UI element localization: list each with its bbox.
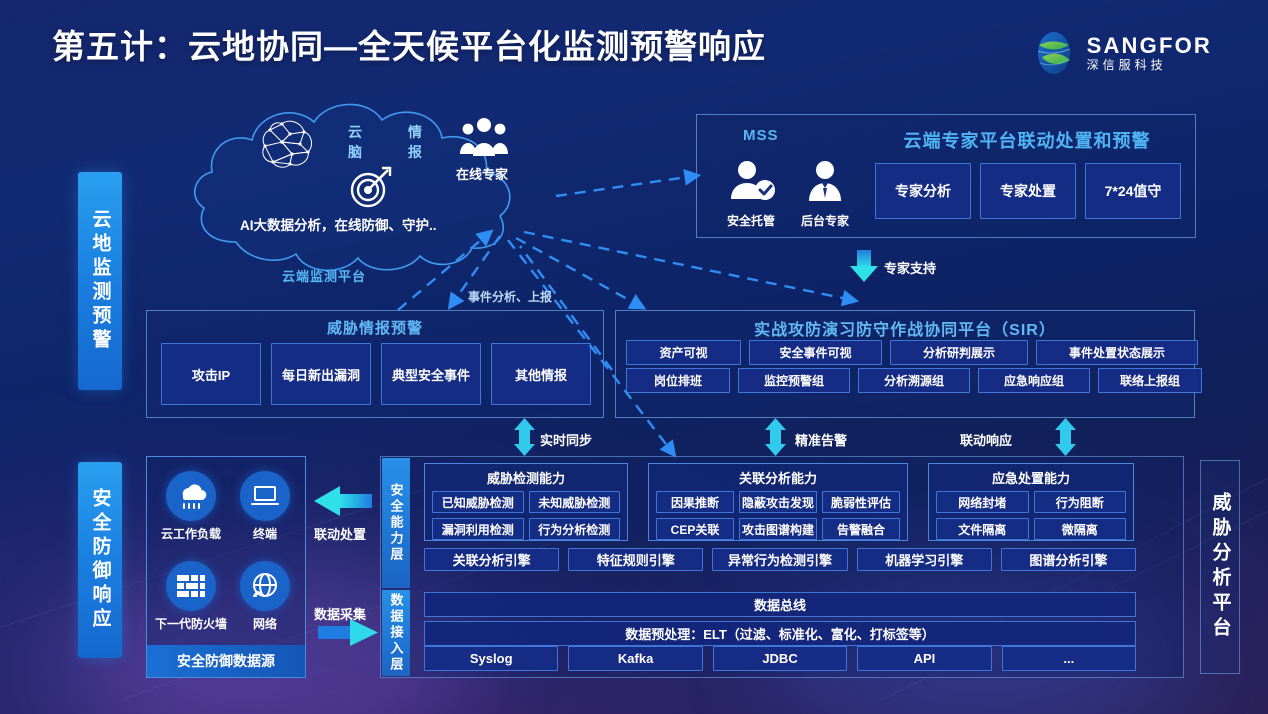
ti-chip-daily-vuln[interactable]: 每日新出漏洞 [271, 343, 371, 405]
security-data-source-box: 云工作负载 终端 下一代防火墙 [146, 456, 306, 678]
engine-row: 关联分析引擎 特征规则引擎 异常行为检测引擎 机器学习引擎 图谱分析引擎 [424, 548, 1136, 571]
cap-chip-behavior-block[interactable]: 行为阻断 [1034, 491, 1127, 513]
data-collect-arrow [318, 619, 378, 646]
brand-name-cn: 深信服科技 [1087, 59, 1212, 72]
sir-panel: 实战攻防演习防守作战协同平台（SIR） 资产可视 安全事件可视 分析研判展示 事… [615, 310, 1195, 418]
firewall-brick-icon [166, 561, 216, 611]
cap-chip-covert-attack[interactable]: 隐蔽攻击发现 [739, 491, 817, 513]
mss-person-backend: 后台专家 [789, 159, 861, 229]
sir-chip-analysis-display[interactable]: 分析研判展示 [890, 340, 1028, 365]
group-items: 已知威胁检测 未知威胁检测 漏洞利用检测 行为分析检测 [425, 487, 627, 540]
cloud-caption: 云端监测平台 [282, 266, 366, 285]
engine-chip-graph-analysis[interactable]: 图谱分析引擎 [1001, 548, 1136, 571]
cap-chip-behavior-detect[interactable]: 行为分析检测 [529, 518, 621, 540]
mss-label: MSS [743, 127, 779, 144]
label-linked-handling: 联动处置 [314, 524, 366, 543]
engine-chip-signature-rule[interactable]: 特征规则引擎 [568, 548, 703, 571]
cap-chip-alert-fusion[interactable]: 告警融合 [822, 518, 900, 540]
cap-chip-network-block[interactable]: 网络封堵 [936, 491, 1029, 513]
mss-chip-expert-analysis[interactable]: 专家分析 [875, 163, 971, 219]
src-label: 网络 [229, 615, 301, 632]
cap-chip-vulnerability-assess[interactable]: 脆弱性评估 [822, 491, 900, 513]
cloud-label-intel: 情报 [408, 122, 426, 162]
group-items: 因果推断 隐蔽攻击发现 脆弱性评估 CEP关联 攻击图谱构建 告警融合 [649, 487, 907, 540]
cap-chip-exploit-detect[interactable]: 漏洞利用检测 [432, 518, 524, 540]
cap-chip-micro-isolation[interactable]: 微隔离 [1034, 518, 1127, 540]
ti-chip-typical-event[interactable]: 典型安全事件 [381, 343, 481, 405]
group-title: 关联分析能力 [649, 468, 907, 487]
label-precise-alert: 精准告警 [795, 430, 847, 449]
src-item-cloud-workload: 云工作负载 [155, 471, 227, 542]
sir-chip-shift-schedule[interactable]: 岗位排班 [626, 368, 730, 393]
sir-chip-emergency-team[interactable]: 应急响应组 [978, 368, 1090, 393]
threat-intel-chip-row: 攻击IP 每日新出漏洞 典型安全事件 其他情报 [161, 343, 591, 405]
data-source-kafka[interactable]: Kafka [568, 646, 702, 671]
ti-chip-other-intel[interactable]: 其他情报 [491, 343, 591, 405]
mss-person-label: 后台专家 [789, 212, 861, 229]
cloud-label-online-experts: 在线专家 [456, 164, 508, 183]
sidebar-tab-threat-analysis-platform: 威胁分析平台 [1200, 460, 1240, 674]
src-label: 终端 [229, 525, 301, 542]
globe-network-icon [240, 561, 290, 611]
src-item-network: 网络 [229, 561, 301, 632]
data-source-jdbc[interactable]: JDBC [713, 646, 847, 671]
linked-handling-arrow [314, 486, 372, 516]
cloud-platform-shape: 云脑 情报 在线专家 AI大数据分析，在线防御、守护.. [178, 92, 568, 282]
brand-logo: SANGFOR 深信服科技 [1031, 30, 1212, 76]
group-title: 威胁检测能力 [425, 468, 627, 487]
mss-chip-row: 专家分析 专家处置 7*24值守 [875, 163, 1181, 219]
data-layer-tab: 数据接入层 [382, 590, 410, 676]
src-label: 云工作负载 [155, 525, 227, 542]
mss-panel: MSS 云端专家平台联动处置和预警 安全托管 后台专家 专家分析 专家处置 7 [696, 114, 1196, 238]
cap-chip-attack-graph[interactable]: 攻击图谱构建 [739, 518, 817, 540]
user-tie-icon [802, 159, 848, 205]
capability-layer-tab: 安全能力层 [382, 458, 410, 588]
label-linked-response: 联动响应 [960, 430, 1012, 449]
sir-chip-asset-visibility[interactable]: 资产可视 [626, 340, 741, 365]
cap-chip-known-threat[interactable]: 已知威胁检测 [432, 491, 524, 513]
group-items: 网络封堵 行为阻断 文件隔离 微隔离 [929, 487, 1133, 540]
capability-group-detection: 威胁检测能力 已知威胁检测 未知威胁检测 漏洞利用检测 行为分析检测 [424, 463, 628, 541]
cap-chip-causal-inference[interactable]: 因果推断 [656, 491, 734, 513]
cap-chip-cep[interactable]: CEP关联 [656, 518, 734, 540]
mss-chip-expert-handling[interactable]: 专家处置 [980, 163, 1076, 219]
laptop-icon [240, 471, 290, 521]
engine-chip-machine-learning[interactable]: 机器学习引擎 [857, 548, 992, 571]
precise-alert-arrow [765, 418, 786, 456]
sir-chip-handling-status[interactable]: 事件处置状态展示 [1036, 340, 1198, 365]
data-source-more[interactable]: ... [1002, 646, 1136, 671]
sir-row-teams: 岗位排班 监控预警组 分析溯源组 应急响应组 联络上报组 [626, 368, 1202, 393]
cap-chip-unknown-threat[interactable]: 未知威胁检测 [529, 491, 621, 513]
group-title: 应急处置能力 [929, 468, 1133, 487]
data-preprocess-bar: 数据预处理：ELT（过滤、标准化、富化、打标签等） [424, 621, 1136, 646]
data-bus-bar: 数据总线 [424, 592, 1136, 617]
ti-chip-attack-ip[interactable]: 攻击IP [161, 343, 261, 405]
data-source-api[interactable]: API [857, 646, 991, 671]
sir-chip-event-visibility[interactable]: 安全事件可视 [749, 340, 882, 365]
cloud-tagline: AI大数据分析，在线防御、守护.. [240, 214, 437, 234]
src-item-endpoint: 终端 [229, 471, 301, 542]
expert-support-arrow [850, 250, 878, 282]
sir-chip-traceability-team[interactable]: 分析溯源组 [858, 368, 970, 393]
page-title: 第五计：云地协同—全天候平台化监测预警响应 [52, 20, 766, 68]
threat-intel-title: 威胁情报预警 [147, 317, 603, 338]
threat-intel-panel: 威胁情报预警 攻击IP 每日新出漏洞 典型安全事件 其他情报 [146, 310, 604, 418]
label-data-collect: 数据采集 [314, 604, 366, 623]
capability-group-correlation: 关联分析能力 因果推断 隐蔽攻击发现 脆弱性评估 CEP关联 攻击图谱构建 告警… [648, 463, 908, 541]
user-verified-icon [723, 159, 779, 205]
realtime-sync-arrow [514, 418, 535, 456]
sangfor-globe-icon [1031, 30, 1077, 76]
cloud-label-brain: 云脑 [348, 122, 366, 162]
engine-chip-correlation[interactable]: 关联分析引擎 [424, 548, 559, 571]
data-source-row: Syslog Kafka JDBC API ... [424, 646, 1136, 671]
sir-chip-liaison-team[interactable]: 联络上报组 [1098, 368, 1202, 393]
brand-name-en: SANGFOR [1087, 34, 1212, 57]
mss-chip-247-duty[interactable]: 7*24值守 [1085, 163, 1181, 219]
src-label: 下一代防火墙 [155, 615, 227, 632]
engine-chip-anomaly-behavior[interactable]: 异常行为检测引擎 [712, 548, 847, 571]
sir-title: 实战攻防演习防守作战协同平台（SIR） [616, 316, 1194, 340]
mss-person-label: 安全托管 [715, 212, 787, 229]
cloud-rain-icon [166, 471, 216, 521]
sir-row-capabilities: 资产可视 安全事件可视 分析研判展示 事件处置状态展示 [626, 340, 1198, 365]
label-event-report: 事件分析、上报 [468, 288, 552, 305]
label-expert-support: 专家支持 [884, 258, 936, 277]
sir-chip-monitoring-team[interactable]: 监控预警组 [738, 368, 850, 393]
cap-chip-file-isolation[interactable]: 文件隔离 [936, 518, 1029, 540]
mss-person-managed: 安全托管 [715, 159, 787, 229]
linked-response-arrow [1055, 418, 1076, 456]
sidebar-tab-cloud-monitoring[interactable]: 云地监测预警 [78, 172, 122, 390]
slide-canvas: 第五计：云地协同—全天候平台化监测预警响应 SAN [0, 0, 1268, 714]
mss-title: 云端专家平台联动处置和预警 [877, 127, 1177, 153]
label-realtime-sync: 实时同步 [540, 430, 592, 449]
sidebar-tab-security-defense[interactable]: 安全防御响应 [78, 462, 122, 658]
src-box-footer: 安全防御数据源 [147, 645, 305, 677]
capability-group-response: 应急处置能力 网络封堵 行为阻断 文件隔离 微隔离 [928, 463, 1134, 541]
src-item-ngfw: 下一代防火墙 [155, 561, 227, 632]
data-source-syslog[interactable]: Syslog [424, 646, 558, 671]
